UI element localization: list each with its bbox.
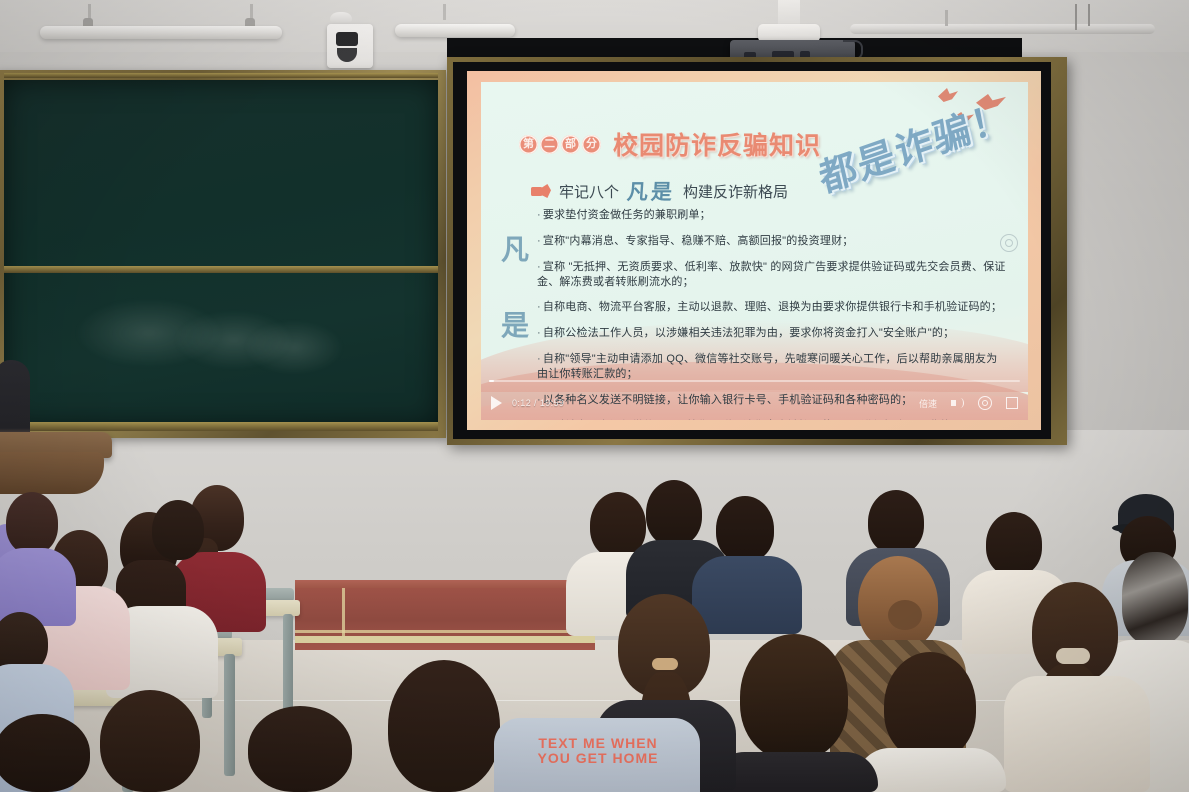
hair-scrunchie [1056,648,1090,664]
bullet-text: 要求垫付资金做任务的兼职刷单； [543,209,711,221]
bullet-item: ·要求垫付资金做任务的兼职刷单； [537,208,1006,223]
part-badge: 第 二 部 分 [519,135,601,154]
hair-clip [652,658,678,670]
fluorescent-tube-mid [395,24,515,37]
side-glyph-fan: 凡 [501,228,529,268]
fullscreen-icon[interactable] [1006,397,1018,409]
side-glyph-shi: 是 [501,304,529,344]
shirt-slogan: TEXT ME WHEN YOU GET HOME [508,736,688,765]
part-badge-char: 第 [519,135,538,154]
projection-screen-frame: 都是诈骗！ 第 二 部 分 校园防诈反骗知识 [447,57,1067,445]
blackboard-divider-rail [4,266,438,273]
slide-subtitle-row: 牢记八个 凡是 构建反诈新格局 [531,176,788,206]
video-controls-right: 倍速 [919,396,1018,410]
bullet-item: ·自称"领导"主动申请添加 QQ、微信等社交账号，先嘘寒问暖关心工作，后以帮助亲… [537,352,1006,382]
bullet-text: 自称公检法工作人员，以涉嫌相关违法犯罪为由，要求你将资金打入"安全账户"的； [543,327,954,339]
shirt-slogan-line1: TEXT ME WHEN [508,736,688,751]
video-progress-fill [489,380,494,382]
subtitle-prefix: 牢记八个 [559,181,619,202]
video-time-display: 0:12 / 19:59 [512,398,564,408]
speaker-dome-icon [337,48,357,62]
subtitle-highlight: 凡是 [626,176,676,206]
slide-title-row: 第 二 部 分 校园防诈反骗知识 [519,126,821,162]
slide-title: 校园防诈反骗知识 [613,126,821,162]
subtitle-suffix: 构建反诈新格局 [683,181,788,202]
desk-leg [224,654,235,776]
slide-content: 都是诈骗！ 第 二 部 分 校园防诈反骗知识 [481,82,1028,420]
bullet-text: 自称"领导"主动申请添加 QQ、微信等社交账号，先嘘寒问暖关心工作，后以帮助亲属… [537,353,997,380]
camera-lens-icon [336,32,358,46]
light-hanger [443,4,446,20]
shirt-slogan-line2: YOU GET HOME [508,751,688,766]
projector-ceiling-mount [778,0,800,26]
pipe-drop [945,10,948,26]
bullet-item: ·宣称 "无抵押、无资质要求、低利率、放款快" 的网贷广告要求提供验证码或先交会… [537,260,1006,290]
projected-slide[interactable]: 都是诈骗！ 第 二 部 分 校园防诈反骗知识 [467,71,1041,430]
play-icon[interactable] [491,396,502,410]
pointing-hand-icon [531,184,551,198]
bullet-text: 宣称 "无抵押、无资质要求、低利率、放款快" 的网贷广告要求提供验证码或先交会员… [537,261,1006,288]
part-badge-char: 分 [582,135,601,154]
volume-icon[interactable] [951,397,964,409]
ceiling-pipe [850,24,1155,34]
part-badge-char: 二 [540,135,559,154]
bullet-item: ·宣称"内幕消息、专家指导、稳赚不赔、高额回报"的投资理财； [537,234,1006,249]
gear-icon[interactable] [978,396,992,410]
blackboard-chalk-tray [4,422,438,431]
fluorescent-tube-left [40,26,282,39]
projection-screen-mat: 都是诈骗！ 第 二 部 分 校园防诈反骗知识 [453,62,1051,439]
bullet-text: 宣称"内幕消息、专家指导、稳赚不赔、高额回报"的投资理财； [543,235,854,247]
bullet-text: 自称电商、物流平台客服，主动以退款、理赔、退换为由要求你提供银行卡和手机验证码的… [543,301,1002,313]
blackboard-top-rail [4,73,438,78]
part-badge-char: 部 [561,135,580,154]
stage-edge-trim [295,636,595,643]
playback-speed-button[interactable]: 倍速 [919,397,937,410]
wall-conduit [1075,4,1077,30]
scam-watermark-text: 都是诈骗！ [813,84,1015,203]
wall-camera-speaker [327,24,373,68]
blackboard [0,70,446,438]
blackboard-surface [4,80,438,426]
video-progress-bar[interactable] [489,380,1020,382]
bullet-item: ·自称公检法工作人员，以涉嫌相关违法犯罪为由，要求你将资金打入"安全账户"的； [537,326,1006,341]
classroom-lecture-scene: 都是诈骗！ 第 二 部 分 校园防诈反骗知识 [0,0,1189,792]
bullet-item: ·自称电商、物流平台客服，主动以退款、理赔、退换为由要求你提供银行卡和手机验证码… [537,300,1006,315]
video-player-controls[interactable]: 0:12 / 19:59 倍速 [481,386,1028,420]
wall-conduit [1088,4,1090,26]
lectern-body [0,452,104,494]
